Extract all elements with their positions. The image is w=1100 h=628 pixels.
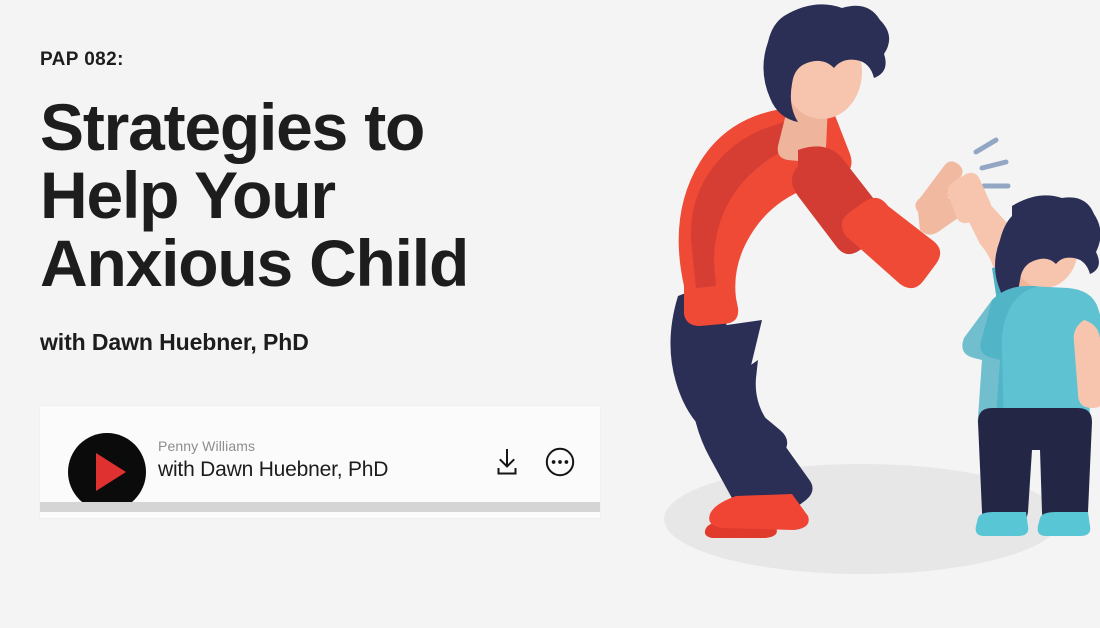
more-options-button[interactable] <box>544 446 576 478</box>
guest-byline: with Dawn Huebner, PhD <box>40 329 640 356</box>
episode-number-label: PAP 082: <box>40 50 640 71</box>
download-icon <box>492 447 522 477</box>
play-triangle-icon <box>96 453 126 491</box>
child-left-shoe <box>976 512 1029 536</box>
hero-text-column: PAP 082: Strategies to Help Your Anxious… <box>40 50 640 356</box>
page-title: Strategies to Help Your Anxious Child <box>40 93 640 297</box>
download-button[interactable] <box>492 447 522 477</box>
progress-scrubber[interactable] <box>40 502 600 512</box>
child-right-shoe <box>1038 512 1091 536</box>
play-button[interactable] <box>68 433 146 511</box>
impact-line-2 <box>982 162 1006 168</box>
track-metadata: Penny Williams with Dawn Huebner, PhD <box>158 437 388 484</box>
more-ellipsis-circle-icon <box>544 446 576 478</box>
player-actions <box>492 446 576 478</box>
parent-and-child-high-five-illustration <box>640 0 1100 628</box>
audio-player-card: Penny Williams with Dawn Huebner, PhD <box>40 406 600 518</box>
impact-line-1 <box>976 140 996 152</box>
track-author: Penny Williams <box>158 437 388 455</box>
episode-cover-canvas: PAP 082: Strategies to Help Your Anxious… <box>0 0 1100 628</box>
track-title: with Dawn Huebner, PhD <box>158 456 388 484</box>
impact-lines <box>976 140 1008 186</box>
